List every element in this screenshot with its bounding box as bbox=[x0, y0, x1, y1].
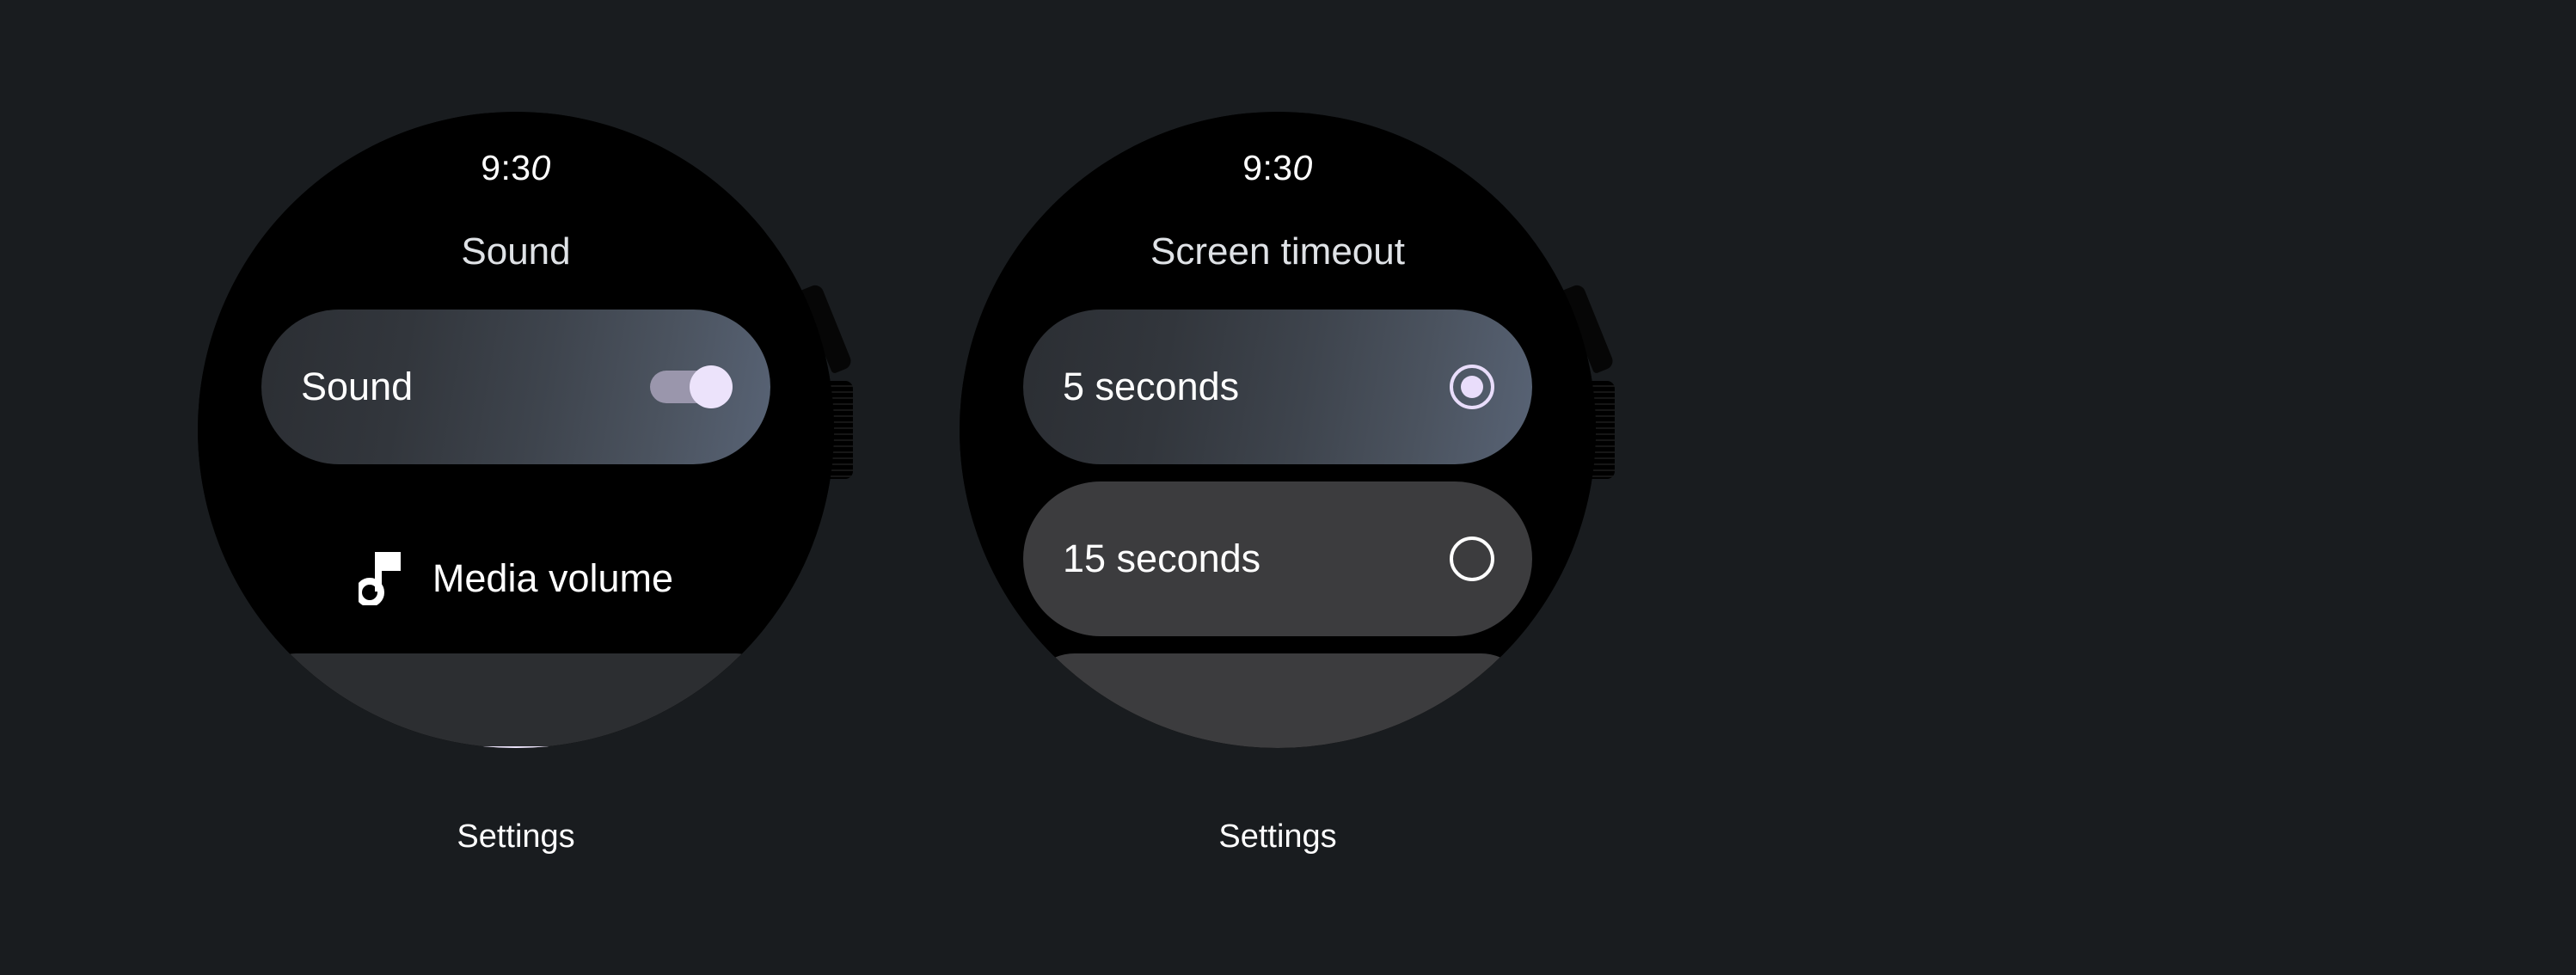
watch-device-sound: 9:30 Sound Sound bbox=[129, 0, 903, 975]
setting-row-15-seconds[interactable]: 15 seconds bbox=[1023, 481, 1532, 636]
status-time: 9:30 bbox=[198, 148, 834, 188]
page-title: Sound bbox=[198, 230, 834, 273]
setting-row-next-partial[interactable] bbox=[1023, 653, 1532, 748]
status-time-tail: 0 bbox=[1293, 148, 1313, 187]
music-note-icon bbox=[359, 552, 403, 605]
watch-body-screen-timeout: 9:30 Screen timeout 5 seconds 15 seconds bbox=[960, 112, 1596, 748]
radio-button-selected-icon[interactable] bbox=[1450, 365, 1494, 409]
setting-label-sound: Sound bbox=[301, 365, 650, 409]
status-time-head: 9:3 bbox=[481, 148, 531, 187]
device-caption-sound: Settings bbox=[129, 819, 903, 855]
sound-toggle-switch[interactable] bbox=[650, 365, 733, 408]
setting-row-sound-toggle[interactable]: Sound bbox=[261, 310, 770, 464]
screenshot-canvas: 9:30 Sound Sound bbox=[0, 0, 2576, 975]
watch-screen-sound: 9:30 Sound Sound bbox=[198, 112, 834, 748]
slider-fill-segment-2 bbox=[464, 746, 593, 748]
status-time-head: 9:3 bbox=[1242, 148, 1292, 187]
setting-row-5-seconds[interactable]: 5 seconds bbox=[1023, 310, 1532, 464]
slider-fill-segment-1 bbox=[301, 746, 464, 748]
watch-screen-screen-timeout: 9:30 Screen timeout 5 seconds 15 seconds bbox=[960, 112, 1596, 748]
page-title: Screen timeout bbox=[960, 230, 1596, 273]
radio-dot-icon bbox=[1461, 376, 1483, 398]
slider-track-icon bbox=[301, 746, 731, 748]
radio-button-unselected-icon[interactable] bbox=[1450, 537, 1494, 581]
setting-label-15-seconds: 15 seconds bbox=[1063, 537, 1450, 581]
device-caption-screen-timeout: Settings bbox=[891, 819, 1665, 855]
status-time-tail: 0 bbox=[531, 148, 551, 187]
setting-row-media-volume[interactable]: Media volume bbox=[198, 552, 834, 605]
setting-label-media-volume: Media volume bbox=[432, 556, 673, 601]
media-volume-slider[interactable] bbox=[261, 653, 770, 748]
status-time: 9:30 bbox=[960, 148, 1596, 188]
watch-device-screen-timeout: 9:30 Screen timeout 5 seconds 15 seconds bbox=[891, 0, 1665, 975]
toggle-thumb-icon bbox=[690, 365, 733, 408]
watch-body-sound: 9:30 Sound Sound bbox=[198, 112, 834, 748]
setting-label-5-seconds: 5 seconds bbox=[1063, 365, 1450, 409]
